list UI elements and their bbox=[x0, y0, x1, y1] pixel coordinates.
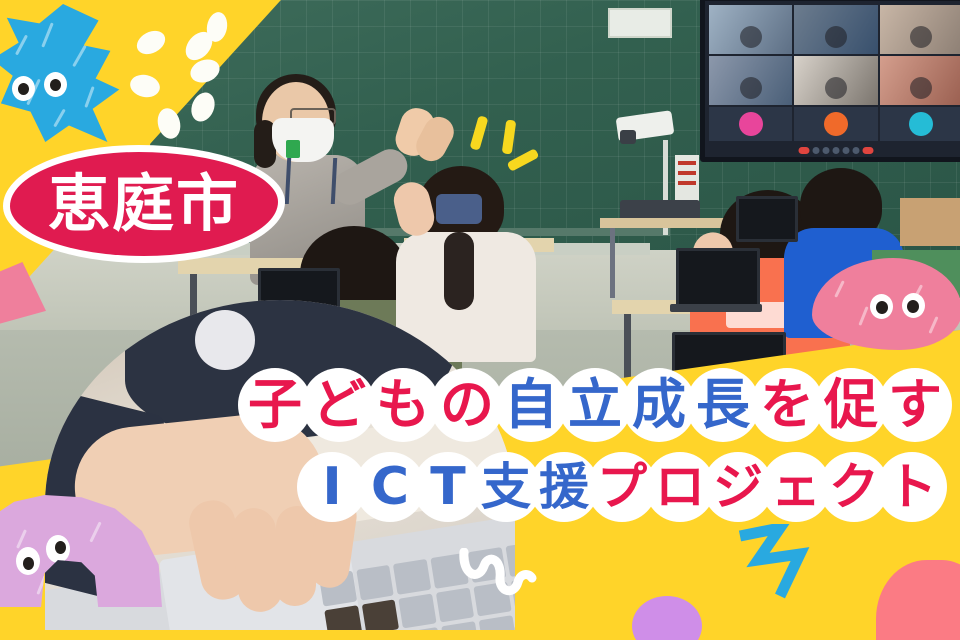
cyan-blob-eye bbox=[12, 76, 35, 101]
side-table bbox=[600, 218, 740, 228]
avatar-tile bbox=[794, 107, 877, 141]
headline-char: 子 bbox=[243, 366, 307, 444]
video-tile bbox=[880, 56, 960, 105]
cyan-zigzag-icon bbox=[736, 524, 818, 602]
headline-char: 自 bbox=[499, 366, 563, 444]
city-badge-label: 恵庭市 bbox=[10, 152, 278, 256]
headline-char: ど bbox=[307, 366, 371, 444]
meeting-control-bar bbox=[799, 147, 874, 154]
headline-line-2: I C T 支 援 プ ロ ジ ェ ク ト bbox=[303, 450, 941, 524]
headline-char: 支 bbox=[477, 450, 535, 524]
headline-char: プ bbox=[593, 450, 651, 524]
headline-line-1: 子 ど も の 自 立 成 長 を 促 す bbox=[243, 366, 947, 444]
headline-char: 立 bbox=[563, 366, 627, 444]
headline-char: ト bbox=[883, 450, 941, 524]
pink-blob-eye bbox=[902, 293, 925, 318]
wall-notice bbox=[608, 8, 672, 38]
video-tile bbox=[709, 56, 792, 105]
thumbnail-canvas: 恵庭市 子 ど も の 自 立 成 長 を 促 す I C T 支 援 プ ロ … bbox=[0, 0, 960, 640]
headline-char: C bbox=[361, 450, 419, 524]
lilac-blob-eye bbox=[46, 535, 70, 563]
video-tile bbox=[794, 5, 877, 54]
headline-char: ロ bbox=[651, 450, 709, 524]
avatar-row bbox=[709, 107, 960, 141]
wall-display bbox=[700, 0, 960, 162]
video-grid bbox=[709, 5, 960, 105]
headline-char: 長 bbox=[691, 366, 755, 444]
headline-char: ェ bbox=[767, 450, 825, 524]
white-squiggle-icon bbox=[458, 548, 544, 606]
lilac-blob-eye bbox=[16, 547, 40, 575]
headline-char: ク bbox=[825, 450, 883, 524]
video-tile bbox=[794, 56, 877, 105]
headline-char: ジ bbox=[709, 450, 767, 524]
video-tile bbox=[709, 5, 792, 54]
headline-char: を bbox=[755, 366, 819, 444]
city-badge: 恵庭市 bbox=[10, 152, 278, 256]
headline-char: す bbox=[883, 366, 947, 444]
avatar-tile bbox=[880, 107, 960, 141]
headline-char: 援 bbox=[535, 450, 593, 524]
headline-char: I bbox=[303, 450, 361, 524]
headline-char: 促 bbox=[819, 366, 883, 444]
video-tile bbox=[880, 5, 960, 54]
headline-char: 成 bbox=[627, 366, 691, 444]
headline-char: T bbox=[419, 450, 477, 524]
avatar-tile bbox=[709, 107, 792, 141]
cyan-blob-eye bbox=[44, 72, 67, 97]
headline-char: の bbox=[435, 366, 499, 444]
headline-char: も bbox=[371, 366, 435, 444]
storage-box bbox=[900, 198, 960, 246]
pink-blob-eye bbox=[870, 294, 893, 319]
document-camera-lens bbox=[620, 130, 636, 144]
